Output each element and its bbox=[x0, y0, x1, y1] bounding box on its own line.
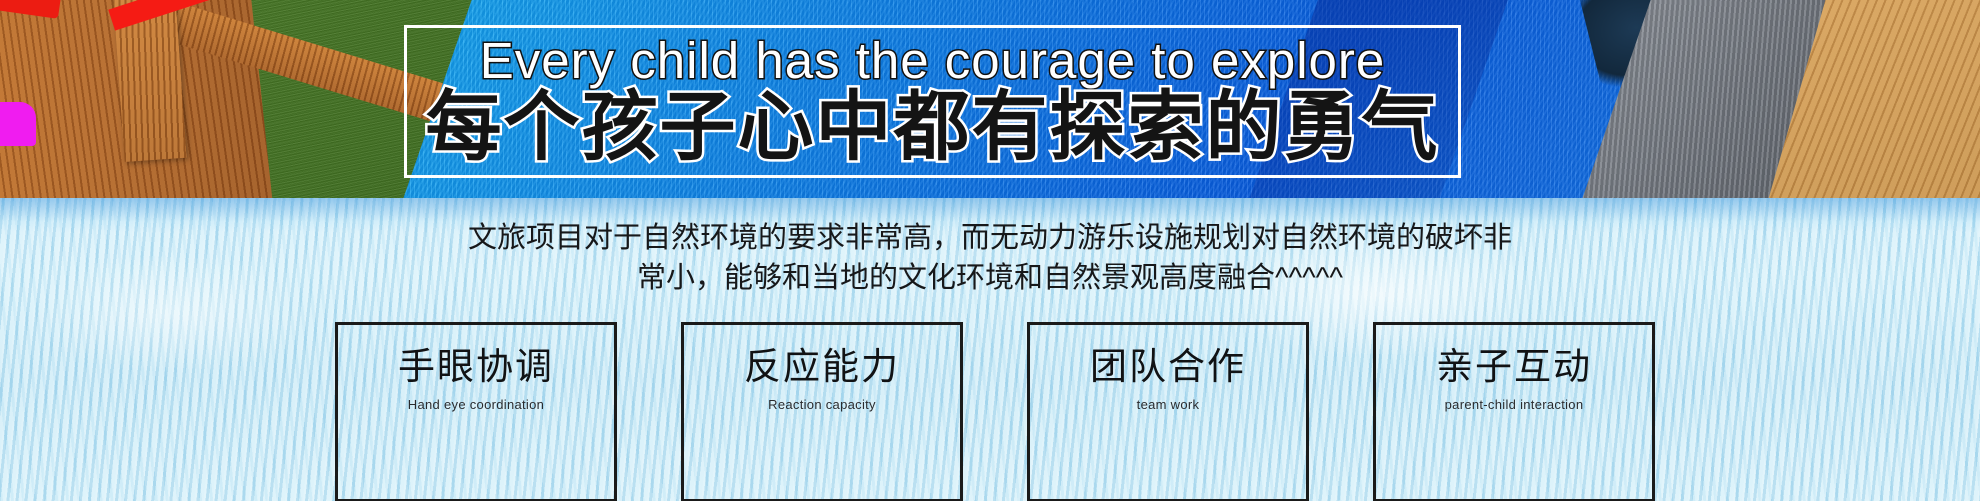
english-headline: Every child has the courage to explore bbox=[480, 33, 1386, 89]
chinese-headline: 每个孩子心中都有探索的勇气 bbox=[426, 85, 1440, 171]
description-line-1: 文旅项目对于自然环境的要求非常高，而无动力游乐设施规划对自然环境的破坏非 bbox=[355, 218, 1625, 258]
description-line-2: 常小，能够和当地的文化环境和自然景观高度融合^^^^^ bbox=[355, 258, 1625, 298]
feature-card-hand-eye-coordination[interactable]: 手眼协调 Hand eye coordination bbox=[335, 322, 617, 501]
headline-group: Every child has the courage to explore 每… bbox=[404, 25, 1461, 178]
card-subtitle: team work bbox=[1137, 397, 1200, 413]
hero-banner: Every child has the courage to explore 每… bbox=[0, 0, 1980, 198]
feature-card-list: 手眼协调 Hand eye coordination 反应能力 Reaction… bbox=[335, 322, 1655, 501]
card-subtitle: Reaction capacity bbox=[768, 397, 876, 413]
card-subtitle: parent-child interaction bbox=[1445, 397, 1584, 413]
promo-poster: Every child has the courage to explore 每… bbox=[0, 0, 1980, 501]
card-title: 团队合作 bbox=[1090, 345, 1246, 389]
content-panel: 文旅项目对于自然环境的要求非常高，而无动力游乐设施规划对自然环境的破坏非 常小，… bbox=[0, 198, 1980, 501]
feature-card-reaction-capacity[interactable]: 反应能力 Reaction capacity bbox=[681, 322, 963, 501]
feature-card-team-work[interactable]: 团队合作 team work bbox=[1027, 322, 1309, 501]
panel-highlight-b bbox=[40, 258, 300, 368]
card-subtitle: Hand eye coordination bbox=[408, 397, 544, 413]
card-title: 反应能力 bbox=[744, 345, 900, 389]
feature-card-parent-child-interaction[interactable]: 亲子互动 parent-child interaction bbox=[1373, 322, 1655, 501]
description-paragraph: 文旅项目对于自然环境的要求非常高，而无动力游乐设施规划对自然环境的破坏非 常小，… bbox=[355, 218, 1625, 298]
magenta-accent-image bbox=[0, 102, 36, 146]
card-title: 手眼协调 bbox=[398, 345, 554, 389]
card-title: 亲子互动 bbox=[1436, 345, 1592, 389]
